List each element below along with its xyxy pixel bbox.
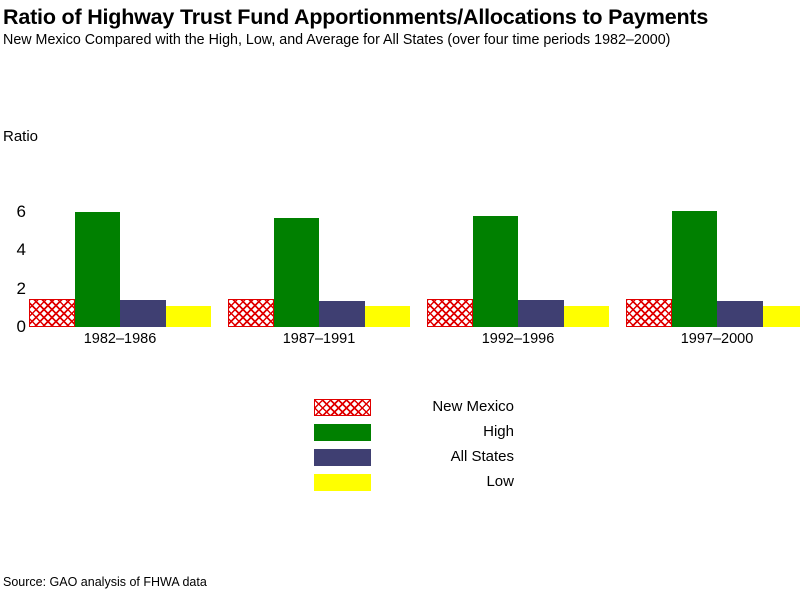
legend-item-all-states[interactable]: All States bbox=[314, 446, 514, 471]
legend-item-high[interactable]: High bbox=[314, 421, 514, 446]
x-tick-label-1997-2000: 1997–2000 bbox=[647, 331, 787, 347]
legend-swatch-all-states bbox=[314, 449, 371, 466]
y-tick-label-0: 0 bbox=[0, 318, 26, 335]
legend-label-low: Low bbox=[374, 471, 514, 493]
bar-low-1987-1991 bbox=[365, 306, 411, 327]
bar-all-states-1987-1991 bbox=[319, 301, 365, 327]
bar-high-1992-1996 bbox=[473, 216, 519, 327]
bar-high-1987-1991 bbox=[274, 218, 320, 327]
bar-new-mexico-1997-2000 bbox=[626, 299, 672, 327]
x-tick-label-1987-1991: 1987–1991 bbox=[249, 331, 389, 347]
legend-label-all-states: All States bbox=[374, 446, 514, 468]
legend-item-new-mexico[interactable]: New Mexico bbox=[314, 396, 514, 421]
legend-swatch-new-mexico bbox=[314, 399, 371, 416]
chart-legend: New Mexico High All States Low bbox=[314, 396, 514, 496]
bar-new-mexico-1982-1986 bbox=[29, 299, 75, 327]
bar-high-1982-1986 bbox=[75, 212, 121, 328]
x-tick-label-1992-1996: 1992–1996 bbox=[448, 331, 588, 347]
y-tick-label-6: 6 bbox=[0, 203, 26, 220]
legend-label-new-mexico: New Mexico bbox=[374, 396, 514, 418]
bar-all-states-1982-1986 bbox=[120, 300, 166, 327]
bar-all-states-1992-1996 bbox=[518, 300, 564, 327]
legend-label-high: High bbox=[374, 421, 514, 443]
bar-all-states-1997-2000 bbox=[717, 301, 763, 327]
bar-low-1982-1986 bbox=[166, 306, 212, 327]
bar-low-1997-2000 bbox=[763, 306, 800, 327]
y-tick-label-4: 4 bbox=[0, 241, 26, 258]
legend-swatch-low bbox=[314, 474, 371, 491]
bar-low-1992-1996 bbox=[564, 306, 610, 327]
x-tick-label-1982-1986: 1982–1986 bbox=[50, 331, 190, 347]
bar-new-mexico-1992-1996 bbox=[427, 299, 473, 327]
legend-swatch-high bbox=[314, 424, 371, 441]
bar-chart-plot: 02461982–19861987–19911992–19961997–2000 bbox=[0, 0, 800, 600]
bar-new-mexico-1987-1991 bbox=[228, 299, 274, 327]
legend-item-low[interactable]: Low bbox=[314, 471, 514, 496]
y-tick-label-2: 2 bbox=[0, 280, 26, 297]
source-note: Source: GAO analysis of FHWA data bbox=[3, 575, 207, 590]
bar-high-1997-2000 bbox=[672, 211, 718, 327]
